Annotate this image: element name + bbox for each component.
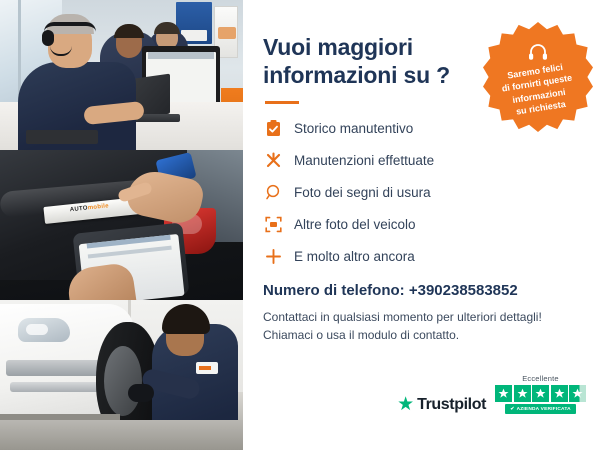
star-rating	[495, 385, 586, 402]
clipboard-check-icon	[263, 118, 283, 138]
request-info-badge: Saremo felici di fornirti queste informa…	[483, 22, 593, 132]
contact-subtext-line-2: Chiamaci o usa il modulo di contatto.	[263, 326, 582, 344]
check-circle-icon: ✔	[510, 406, 514, 412]
list-item: Altre foto del veicolo	[263, 214, 582, 234]
headlight	[18, 318, 70, 342]
benefits-list: Storico manutentivo Manutenzioni effettu…	[263, 118, 582, 266]
trustpilot-widget[interactable]: ★ Trustpilot Eccellente ✔ AZIENDA VERIFI…	[397, 374, 586, 414]
headset-earcup-icon	[42, 30, 54, 46]
scan-frame-icon	[263, 214, 283, 234]
keyboard	[26, 130, 98, 144]
phone-label: Numero di telefono:	[263, 282, 405, 299]
list-item: Foto dei segni di usura	[263, 182, 582, 202]
title-divider	[265, 101, 299, 104]
photo-column: AUTOmobile	[0, 0, 243, 450]
list-item: Manutenzioni effettuate	[263, 150, 582, 170]
panel-gauge-inspection-photo: AUTOmobile	[0, 150, 243, 300]
list-item-label: E molto altro ancora	[294, 249, 415, 264]
verified-label: AZIENDA VERIFICATA	[517, 407, 571, 412]
star-icon	[495, 385, 512, 402]
star-icon-partial	[569, 385, 586, 402]
star-icon	[514, 385, 531, 402]
rating-label: Eccellente	[522, 374, 559, 383]
list-item: E molto altro ancora	[263, 246, 582, 266]
content-panel: Vuoi maggiori informazioni su ? Storico …	[243, 0, 600, 450]
list-item-label: Foto dei segni di usura	[294, 185, 431, 200]
mechanic-wheel-inspection-photo	[0, 300, 243, 450]
contact-subtext: Contattaci in qualsiasi momento per ulte…	[263, 308, 582, 344]
trustpilot-logo: ★ Trustpilot	[397, 395, 486, 414]
list-item-label: Storico manutentivo	[294, 121, 413, 136]
magnifier-icon	[263, 182, 283, 202]
list-item-label: Manutenzioni effettuate	[294, 153, 434, 168]
phone-number[interactable]: +390238583852	[409, 282, 518, 299]
verified-company-badge: ✔ AZIENDA VERIFICATA	[505, 404, 576, 414]
front-grille	[6, 360, 110, 376]
phone-line: Numero di telefono: +390238583852	[263, 282, 582, 299]
star-icon: ★	[397, 395, 414, 414]
lift-platform	[0, 420, 243, 450]
uniform-logo	[196, 362, 218, 374]
lower-grille	[10, 382, 102, 392]
star-icon	[551, 385, 568, 402]
trustpilot-rating: Eccellente ✔ AZIENDA VERIFICATA	[495, 374, 586, 414]
plus-icon	[263, 246, 283, 266]
list-item-label: Altre foto del veicolo	[294, 217, 416, 232]
contact-subtext-line-1: Contattaci in qualsiasi momento per ulte…	[263, 308, 582, 326]
promo-banner: AUTOmobile Vuo	[0, 0, 600, 450]
trustpilot-wordmark: Trustpilot	[417, 396, 486, 414]
star-icon	[532, 385, 549, 402]
wrench-cross-icon	[263, 150, 283, 170]
call-center-agents-photo	[0, 0, 243, 150]
wheel-rim	[104, 346, 142, 416]
mechanic-glove	[128, 384, 154, 402]
agent-background-1-hair	[114, 24, 144, 38]
